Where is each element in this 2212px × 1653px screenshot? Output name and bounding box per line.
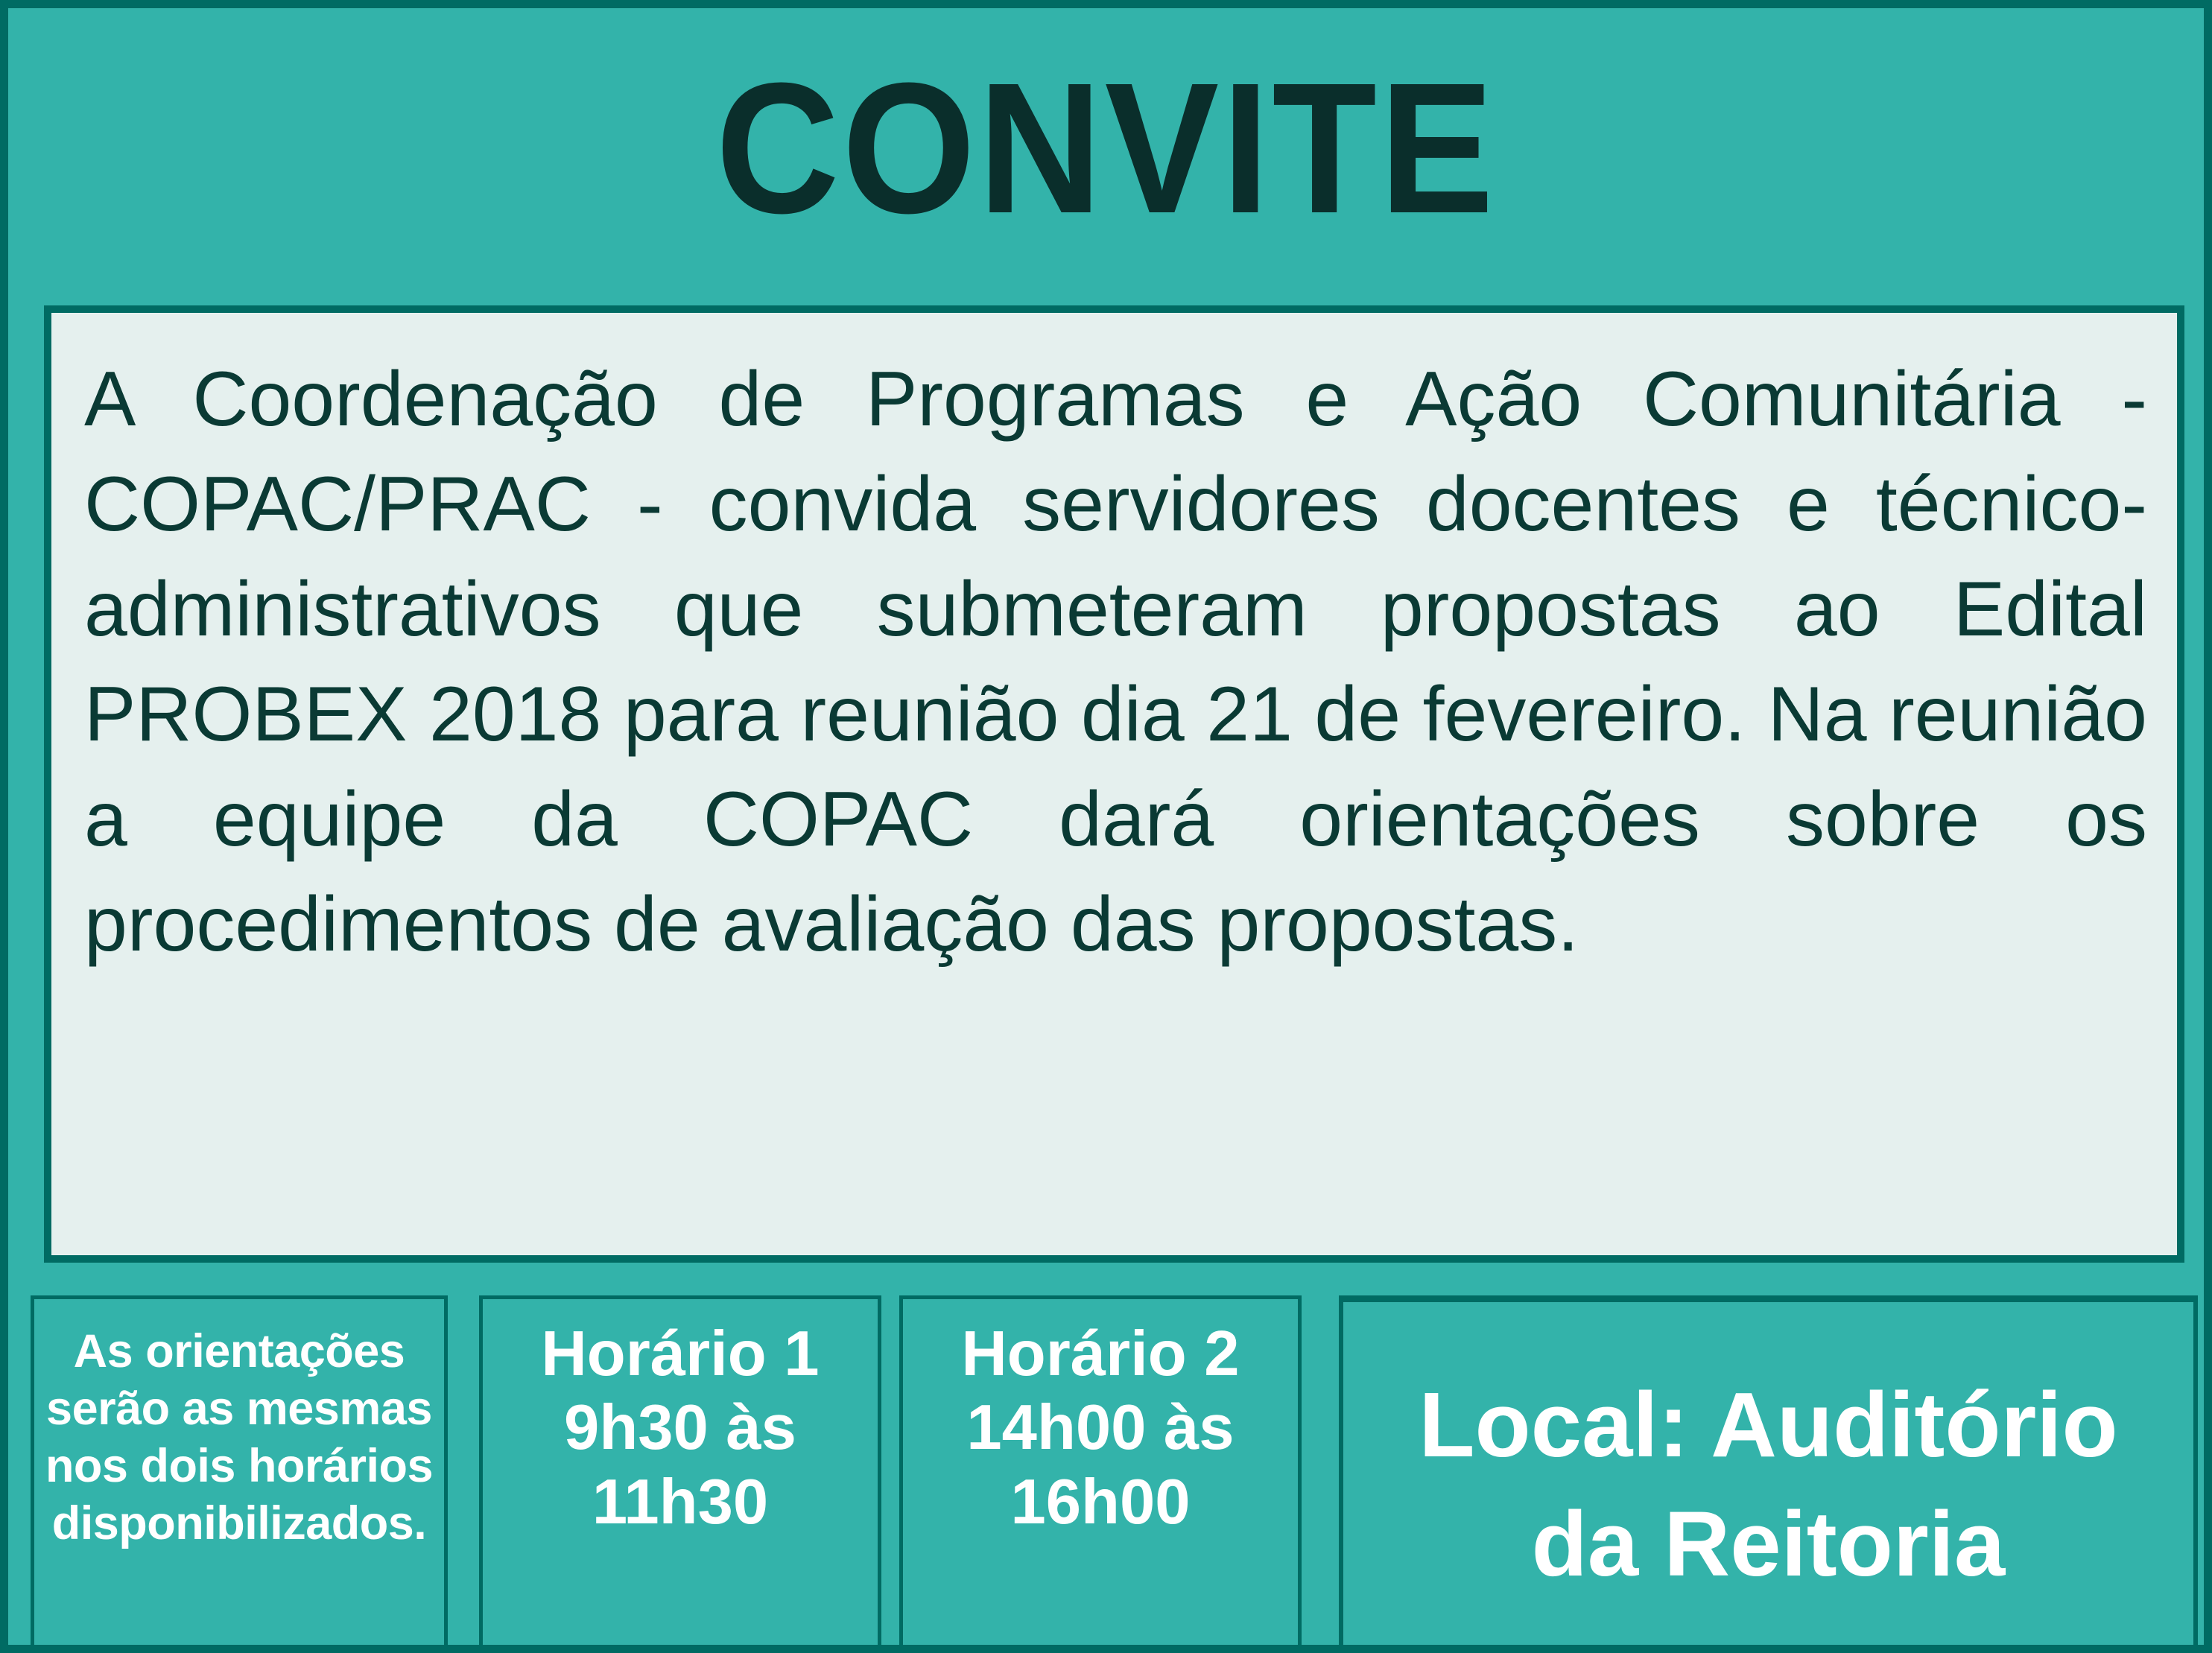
poster-title-container: CONVITE	[8, 37, 2204, 260]
schedule-2-start: 14h00 às	[966, 1391, 1234, 1465]
note-box: As orientações serão as mesmas nos dois …	[31, 1295, 448, 1649]
location-lines: Local: Auditório da Reitoria	[1419, 1366, 2117, 1605]
location-line-1: Local: Auditório	[1419, 1366, 2117, 1485]
location-line-2: da Reitoria	[1419, 1485, 2117, 1605]
schedule-box-2: Horário 2 14h00 às 16h00	[899, 1295, 1302, 1653]
body-paragraph: A Coordenação de Programas e Ação Comuni…	[84, 347, 2147, 977]
schedule-box-1: Horário 1 9h30 às 11h30	[479, 1295, 881, 1653]
schedule-1-end: 11h30	[592, 1465, 768, 1539]
schedule-1-start: 9h30 às	[564, 1391, 796, 1465]
schedule-2-end: 16h00	[1010, 1465, 1190, 1539]
schedule-1-label: Horário 1	[541, 1317, 819, 1391]
page-title: CONVITE	[715, 55, 1496, 241]
schedule-2-label: Horário 2	[961, 1317, 1239, 1391]
note-line-1: As orientações	[74, 1323, 405, 1380]
note-line-3: nos dois horários	[45, 1438, 433, 1495]
body-text-panel: A Coordenação de Programas e Ação Comuni…	[44, 305, 2184, 1263]
note-line-2: serão as mesmas	[46, 1380, 432, 1438]
location-box: Local: Auditório da Reitoria	[1339, 1295, 2198, 1653]
note-line-4: disponibilizados.	[52, 1495, 427, 1552]
invitation-poster: CONVITE A Coordenação de Programas e Açã…	[0, 0, 2212, 1653]
bottom-boxes-row: As orientações serão as mesmas nos dois …	[8, 1295, 2212, 1653]
